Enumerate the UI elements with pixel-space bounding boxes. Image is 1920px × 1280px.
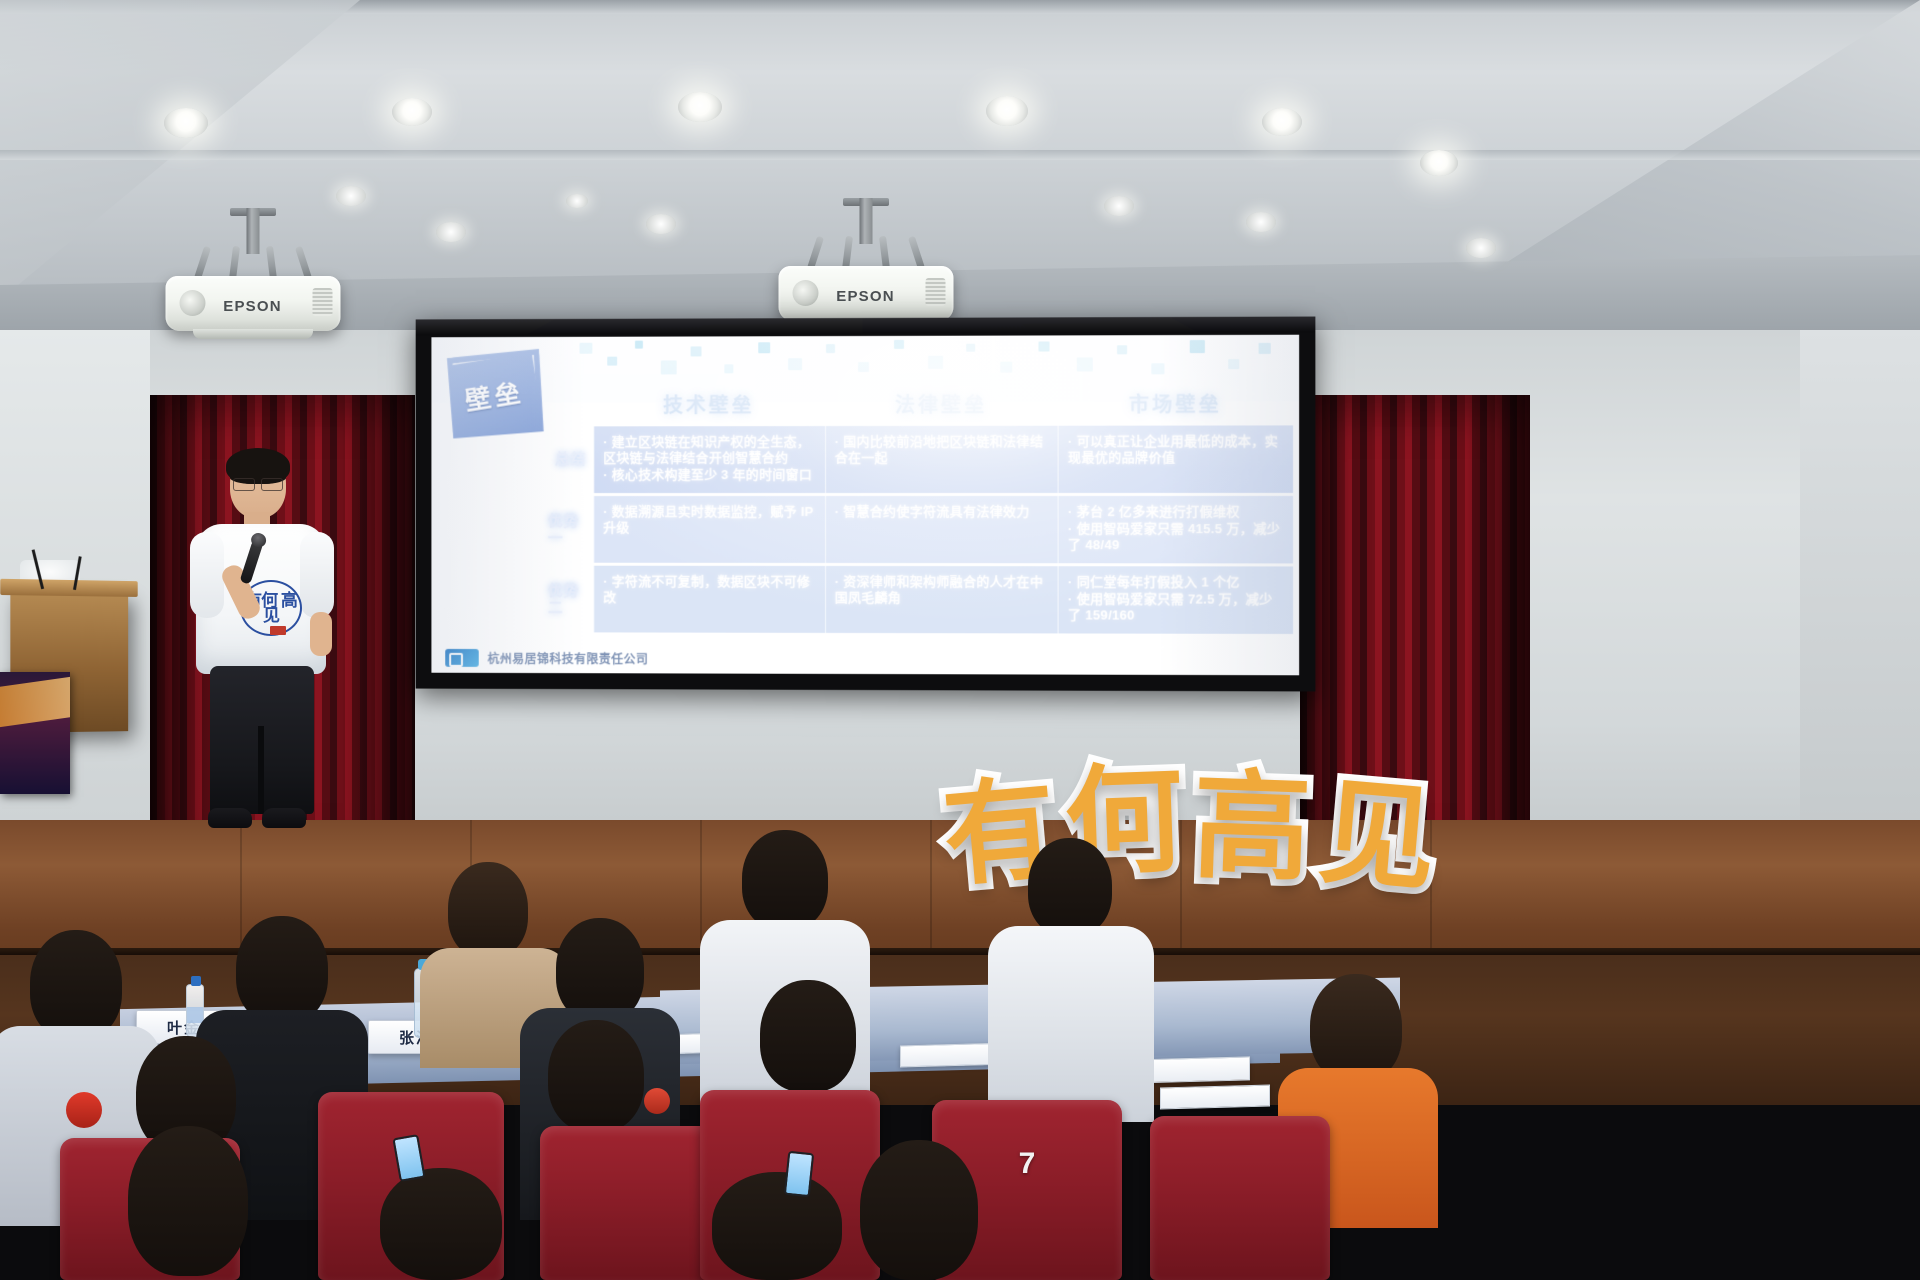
bullet-item: · 同仁堂每年打假投入 1 个亿 (1068, 574, 1284, 590)
company-name: 杭州易居锦科技有限责任公司 (488, 650, 649, 667)
table-cell: · 建立区块链在知识产权的全生态，区块链与法律结合开创智慧合约 · 核心技术构建… (593, 426, 824, 493)
presenter-pants (210, 666, 314, 814)
audience-chair (1150, 1116, 1330, 1280)
audience-head (760, 980, 856, 1092)
barriers-table: 技术壁垒 法律壁垒 市场壁垒 总结 · 建立区块链在知识产权的全生态，区块链与法… (548, 385, 1293, 637)
sign-char-4: 见 (1315, 774, 1441, 900)
row-label-text: 总结 (555, 451, 587, 468)
wall-right-panel (1800, 330, 1920, 890)
table-cell: · 茅台 2 亿多来进行打假维权 · 使用智码爱家只需 415.5 万，减少了 … (1058, 496, 1293, 564)
projection-screen: 壁垒 技术壁垒 法律壁垒 市场壁垒 总结 · 建立区块链在知识 (431, 335, 1299, 676)
row-label-advantage-one: 优势一 (548, 496, 594, 563)
ceiling-downlight (1466, 238, 1496, 258)
table-corner-cell (548, 387, 594, 427)
column-header-tech: 技术壁垒 (593, 386, 824, 426)
bullet-item: · 建立区块链在知识产权的全生态，区块链与法律结合开创智慧合约 (603, 434, 815, 466)
projector-base (193, 329, 313, 339)
audience-head (742, 830, 828, 930)
row-label-text: 优势二 (548, 582, 594, 616)
document-stack (1160, 1085, 1270, 1110)
ceiling-band (0, 150, 1920, 160)
audience-head (556, 918, 644, 1022)
tshirt-logo-stamp (270, 626, 286, 635)
ceiling-downlight (646, 214, 676, 234)
audience-head (712, 1172, 842, 1280)
ceiling-downlight (1104, 196, 1134, 216)
table-row: 优势一 · 数据溯源且实时数据监控，赋予 IP 升级 · 智慧合约使字符流具有法… (548, 496, 1293, 564)
presenter-sleeve-left (190, 532, 224, 618)
projector-vent (925, 278, 945, 306)
ceiling-downlight (392, 98, 432, 126)
event-poster (0, 672, 70, 794)
red-handheld-object (644, 1088, 670, 1114)
slide-footer: 杭州易居锦科技有限责任公司 (445, 649, 648, 667)
audience-area: 叶金 张满 沈磊 (0, 940, 1920, 1280)
audience-head (30, 930, 122, 1040)
table-row: 优势二 · 字符流不可复制，数据区块不可修改 · 资深律师和架构师融合的人才在中… (548, 566, 1293, 634)
row-label-text: 优势一 (548, 512, 594, 546)
bullet-item: · 核心技术构建至少 3 年的时间窗口 (603, 467, 815, 483)
projector-brand-label: EPSON (223, 298, 282, 315)
projector-body: EPSON (778, 266, 953, 321)
lectern-top (0, 579, 137, 597)
table-cell: · 同仁堂每年打假投入 1 个亿 · 使用智码爱家只需 72.5 万，减少了 1… (1058, 566, 1293, 634)
presenter: 有何 高见 (196, 452, 326, 842)
smartphone (784, 1151, 814, 1197)
row-label-summary: 总结 (548, 426, 594, 493)
bullet-item: · 数据溯源且实时数据监控，赋予 IP 升级 (603, 504, 815, 536)
audience-head (548, 1020, 644, 1132)
table-cell: · 资深律师和架构师融合的人才在中国凤毛麟角 (825, 566, 1058, 633)
column-header-market: 市场壁垒 (1058, 385, 1293, 426)
ceiling-downlight (436, 222, 466, 242)
audience-head (128, 1126, 248, 1276)
projector-lens (792, 280, 818, 306)
auditorium-photo: EPSON EPSON (0, 0, 1920, 1280)
audience-head (448, 862, 528, 958)
ceiling-downlight (1246, 212, 1276, 232)
projector-vent (312, 288, 332, 316)
bullet-item: · 使用智码爱家只需 415.5 万，减少了 48/49 (1068, 521, 1284, 553)
presentation-slide: 壁垒 技术壁垒 法律壁垒 市场壁垒 总结 · 建立区块链在知识 (431, 335, 1299, 676)
presenter-shoe-right (262, 808, 306, 828)
table-row: 总结 · 建立区块链在知识产权的全生态，区块链与法律结合开创智慧合约 · 核心技… (548, 425, 1293, 493)
audience-head (1028, 838, 1112, 936)
projector-body: EPSON (165, 276, 340, 331)
ceiling-downlight (678, 92, 722, 122)
row-label-advantage-two: 优势二 (548, 566, 594, 633)
ceiling-downlight (1420, 150, 1458, 176)
audience-head (860, 1140, 978, 1280)
table-cell: · 智慧合约使字符流具有法律效力 (825, 496, 1058, 563)
audience-body (988, 926, 1154, 1122)
bullet-item: · 国内比较前沿地把区块链和法律结合在一起 (835, 434, 1049, 466)
company-logo-icon (445, 649, 479, 667)
projection-screen-frame: 壁垒 技术壁垒 法律壁垒 市场壁垒 总结 · 建立区块链在知识 (416, 317, 1316, 692)
audience-head (380, 1168, 502, 1280)
table-header-row: 技术壁垒 法律壁垒 市场壁垒 (548, 385, 1293, 426)
column-header-legal: 法律壁垒 (825, 386, 1058, 426)
chair-number: 7 (1019, 1147, 1036, 1181)
bullet-item: · 资深律师和架构师融合的人才在中国凤毛麟角 (835, 574, 1049, 606)
stage-signage: 有 何 高 见 (870, 718, 1510, 928)
bullet-item: · 茅台 2 亿多来进行打假维权 (1068, 504, 1284, 520)
glasses-icon (233, 478, 283, 489)
ceiling-downlight (164, 108, 208, 138)
screen-top-bar (416, 317, 1316, 336)
table-cell: · 可以真正让企业用最低的成本，实现最优的品牌价值 (1058, 425, 1293, 493)
table-cell: · 国内比较前沿地把区块链和法律结合在一起 (825, 426, 1058, 493)
projector-brand-label: EPSON (836, 288, 895, 305)
ceiling-downlight (986, 96, 1028, 126)
ceiling-downlight (1262, 108, 1302, 136)
bullet-item: · 智慧合约使字符流具有法律效力 (835, 504, 1049, 520)
red-handheld-object (66, 1092, 102, 1128)
slide-title-badge: 壁垒 (437, 343, 553, 450)
audience-head (1310, 974, 1402, 1082)
ceiling-downlight (336, 186, 366, 206)
audience-head (236, 916, 328, 1024)
sign-char-3: 高 (1191, 766, 1313, 888)
table-cell: · 数据溯源且实时数据监控，赋予 IP 升级 (593, 496, 824, 563)
projector-lens (179, 290, 205, 316)
presenter-shoe-left (208, 808, 252, 828)
presenter-forearm-right (310, 612, 332, 656)
projector-left: EPSON (165, 208, 340, 348)
presenter-sleeve-right (300, 532, 334, 618)
smoke-detector (566, 194, 588, 208)
bullet-item: · 使用智码爱家只需 72.5 万，减少了 159/160 (1068, 591, 1284, 624)
table-cell: · 字符流不可复制，数据区块不可修改 (593, 566, 824, 633)
bullet-item: · 字符流不可复制，数据区块不可修改 (603, 574, 815, 606)
bullet-item: · 可以真正让企业用最低的成本，实现最优的品牌价值 (1068, 433, 1284, 465)
